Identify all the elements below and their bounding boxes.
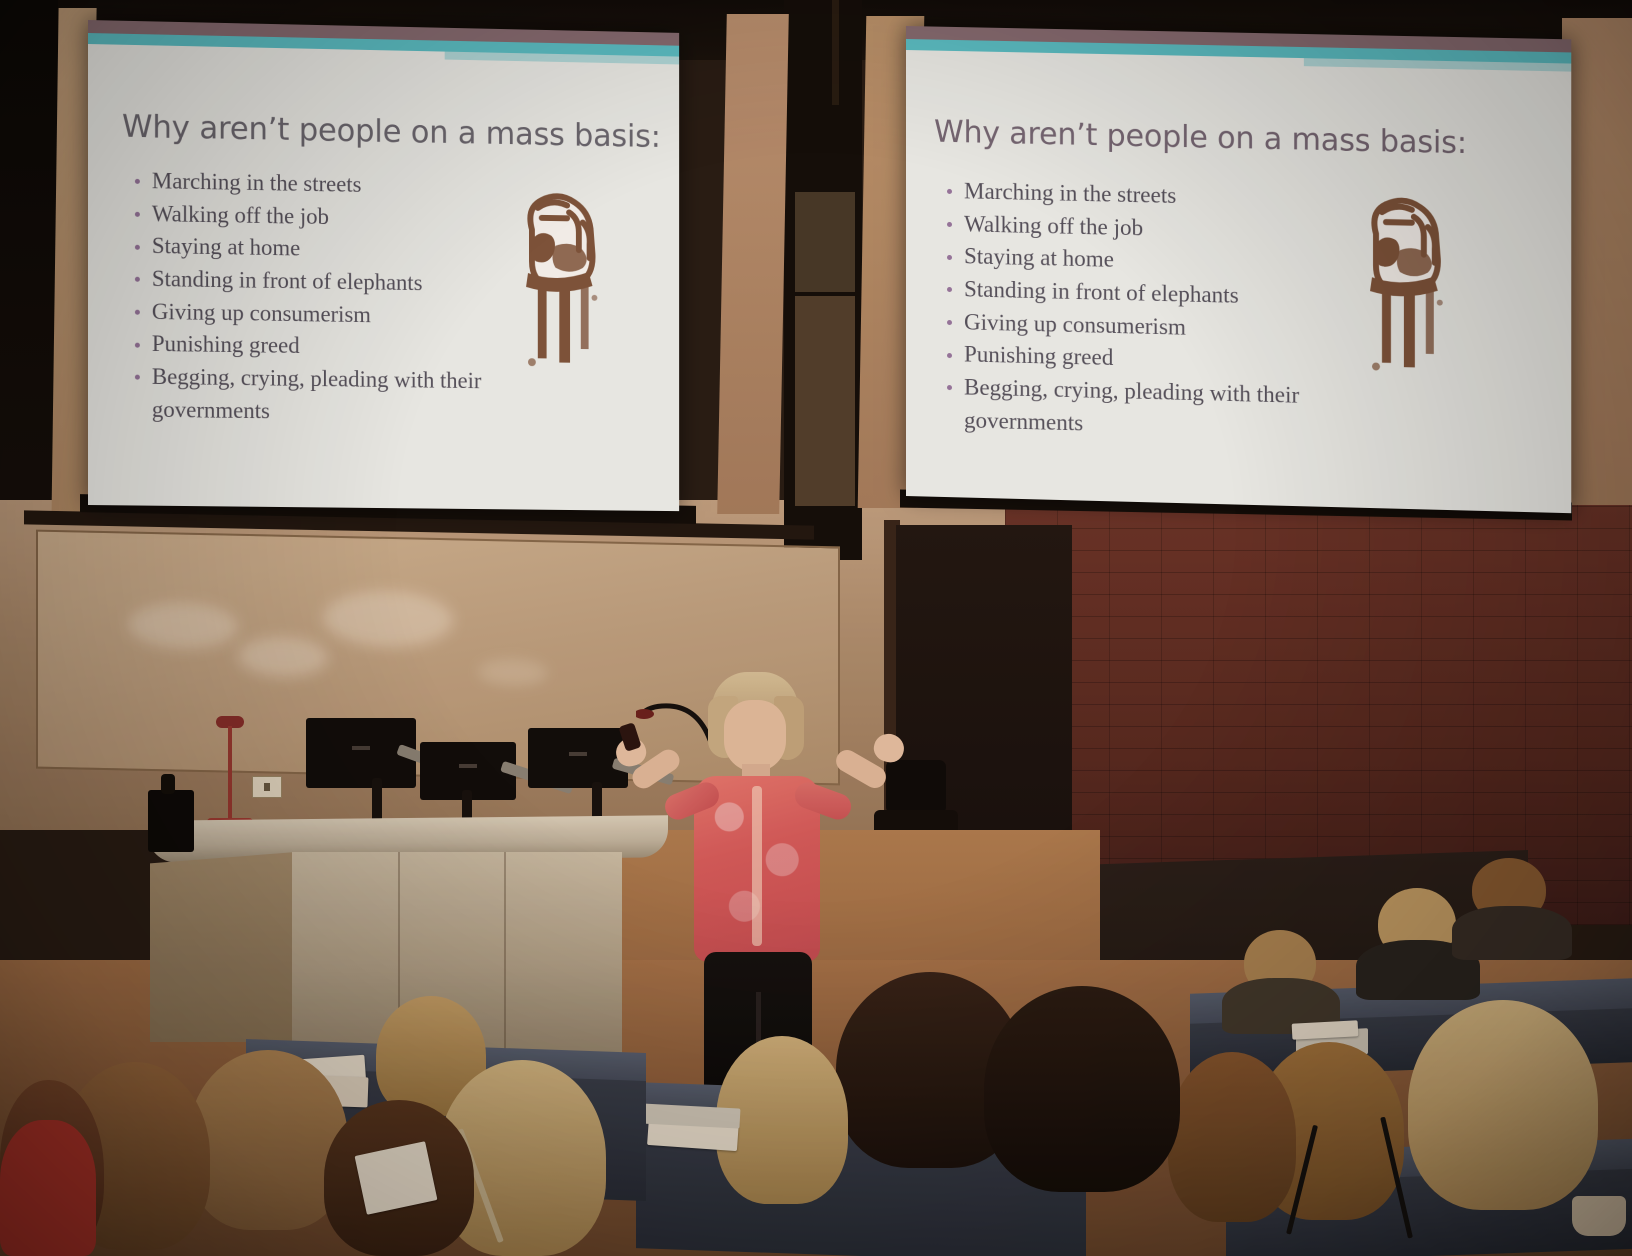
slide-bullet-list: Marching in the streets Walking off the … bbox=[944, 175, 1387, 447]
presenter-face bbox=[724, 700, 786, 772]
wall-panel-right bbox=[1562, 18, 1632, 518]
gooseneck-lamp-stem bbox=[228, 726, 232, 822]
slide-content-left: Why aren’t people on a mass basis: March… bbox=[88, 20, 679, 511]
coffee-cup[interactable] bbox=[1572, 1196, 1626, 1236]
lecture-hall-photo: Why aren’t people on a mass basis: March… bbox=[0, 0, 1632, 1256]
wall-outlet bbox=[252, 776, 282, 798]
presenter-hand-right bbox=[871, 730, 908, 765]
slide-content-right: Why aren’t people on a mass basis: March… bbox=[906, 26, 1571, 513]
audience-shoulders bbox=[0, 1120, 96, 1256]
raised-fist-icon bbox=[499, 178, 616, 373]
slide-bullet: Begging, crying, pleading with their gov… bbox=[132, 361, 547, 431]
slide-title: Why aren’t people on a mass basis: bbox=[122, 109, 661, 155]
audience-head bbox=[1168, 1052, 1296, 1222]
screen-mount-rod bbox=[832, 0, 839, 105]
raised-fist-icon bbox=[1340, 181, 1463, 377]
bench-side-panel bbox=[150, 852, 296, 1042]
audience-head bbox=[1408, 1000, 1598, 1210]
audience-shoulders bbox=[1452, 906, 1572, 960]
slide-bullet: Begging, crying, pleading with their gov… bbox=[944, 371, 1387, 447]
black-equipment-box[interactable] bbox=[148, 790, 194, 852]
wall-panel-gap-a bbox=[717, 14, 789, 514]
monitor-1-stalk bbox=[372, 778, 382, 824]
gap-panel-upper bbox=[795, 192, 855, 292]
left-dark-wall bbox=[0, 0, 58, 525]
left-projection-screen: Why aren’t people on a mass basis: March… bbox=[88, 20, 679, 511]
slide-title: Why aren’t people on a mass basis: bbox=[934, 115, 1467, 162]
right-projection-screen: Why aren’t people on a mass basis: March… bbox=[906, 26, 1571, 513]
slide-bullet-list: Marching in the streets Walking off the … bbox=[132, 165, 547, 431]
gap-panel-lower bbox=[795, 296, 855, 506]
audience-head bbox=[984, 986, 1180, 1192]
